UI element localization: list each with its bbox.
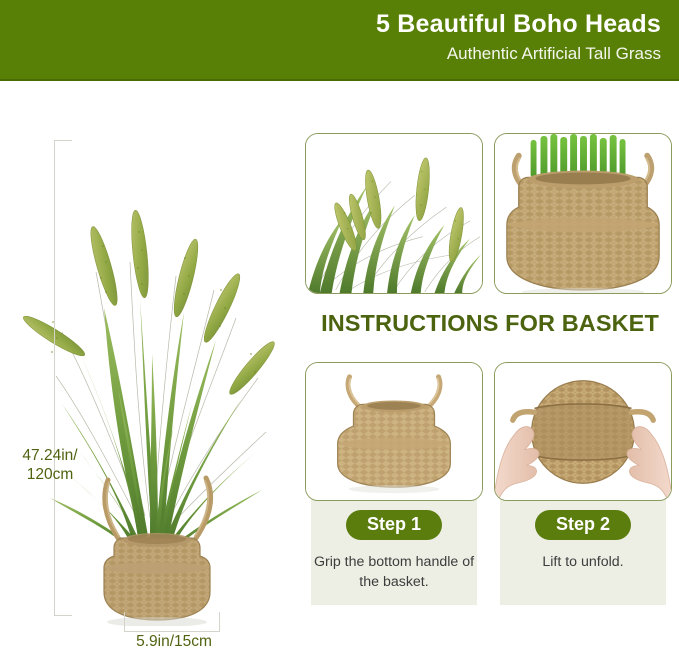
product-photo xyxy=(0,86,300,626)
product-showcase: 47.24in/ 120cm 5.9in/15cm xyxy=(0,86,300,659)
header-text-group: 5 Beautiful Boho Heads Authentic Artific… xyxy=(376,8,661,66)
step-card-1: Step 1 Grip the bottom handle of the bas… xyxy=(305,362,483,605)
step-2-caption: Lift to unfold. xyxy=(498,552,668,572)
header-banner: 5 Beautiful Boho Heads Authentic Artific… xyxy=(0,0,679,81)
width-dimension-bracket xyxy=(124,612,220,632)
grass-closeup-panel xyxy=(305,133,483,294)
basket-closeup-panel xyxy=(494,133,672,294)
step-2-badge: Step 2 xyxy=(535,510,631,540)
step-1-caption: Grip the bottom handle of the basket. xyxy=(309,552,479,592)
height-dimension-bracket xyxy=(54,140,72,616)
step-1-photo xyxy=(305,362,483,501)
step-card-2: Step 2 Lift to unfold. xyxy=(494,362,672,605)
step-1-badge: Step 1 xyxy=(346,510,442,540)
step-2-photo xyxy=(494,362,672,501)
instructions-title: INSTRUCTIONS FOR BASKET xyxy=(305,310,675,337)
page-title: 5 Beautiful Boho Heads xyxy=(376,8,661,40)
step-2-caption-panel xyxy=(500,488,666,605)
page-subtitle: Authentic Artificial Tall Grass xyxy=(376,42,661,66)
height-value-inches: 47.24in/ xyxy=(22,447,77,464)
width-dimension-label: 5.9in/15cm xyxy=(100,632,248,652)
height-value-cm: 120cm xyxy=(27,466,74,483)
height-dimension-label: 47.24in/ 120cm xyxy=(2,446,98,484)
